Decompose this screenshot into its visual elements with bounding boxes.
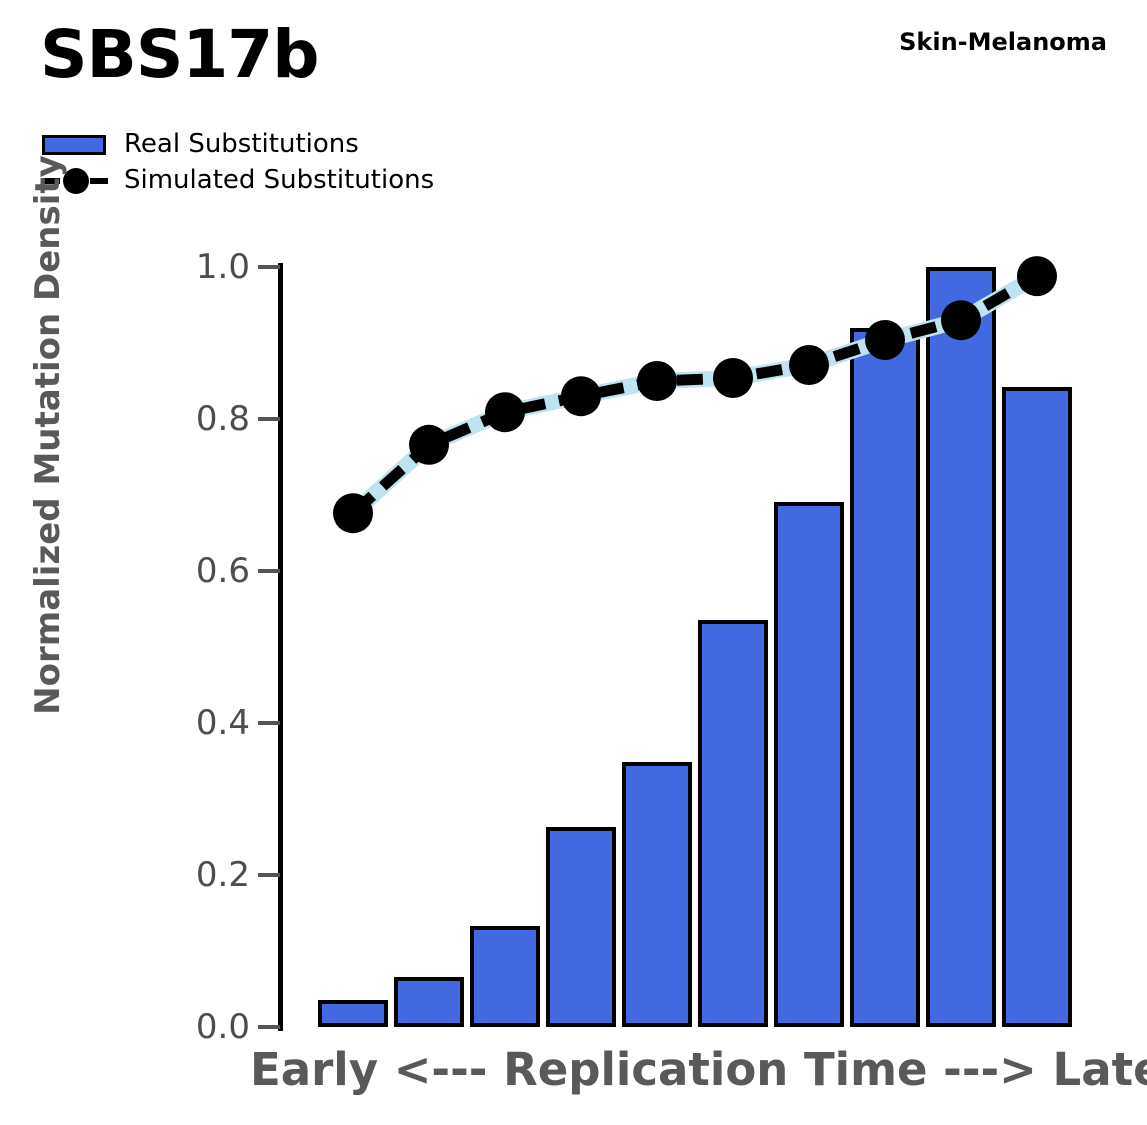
bar [774,502,844,1027]
y-axis-tick [258,873,280,877]
cohort-annotation: Skin-Melanoma [899,28,1107,56]
bar [318,1000,388,1027]
legend-item-simulated-substitutions[interactable]: Simulated Substitutions [40,162,560,198]
y-axis-tick-label: 0.6 [140,551,250,591]
y-axis-tick [258,1025,280,1029]
legend: Real Substitutions Simulated Substitutio… [40,126,560,198]
bar [622,762,692,1027]
legend-item-real-substitutions[interactable]: Real Substitutions [40,126,560,162]
y-axis-tick-label: 0.2 [140,855,250,895]
legend-label: Real Substitutions [124,129,359,159]
bar [926,267,996,1027]
y-axis-tick-label: 0.4 [140,703,250,743]
y-axis-tick-label: 1.0 [140,247,250,287]
y-axis-tick [258,721,280,725]
page-title: SBS17b [40,22,318,88]
x-axis-title: Early <--- Replication Time ---> Late [250,1043,1130,1096]
bar [1002,387,1072,1027]
y-axis-tick [258,265,280,269]
y-axis-tick-label: 0.0 [140,1007,250,1047]
bar [850,328,920,1027]
bar [546,827,616,1027]
y-axis-title: Normalized Mutation Density [28,155,68,715]
chart-figure: SBS17b Skin-Melanoma Real Substitutions … [0,0,1147,1125]
plot-area [315,267,1075,1027]
y-axis-tick-label: 0.8 [140,399,250,439]
bar [394,977,464,1027]
y-axis-tick [258,569,280,573]
bar [698,620,768,1027]
legend-label: Simulated Substitutions [124,165,434,195]
bar [470,926,540,1027]
y-axis-tick [258,417,280,421]
y-axis-spine [278,263,283,1031]
